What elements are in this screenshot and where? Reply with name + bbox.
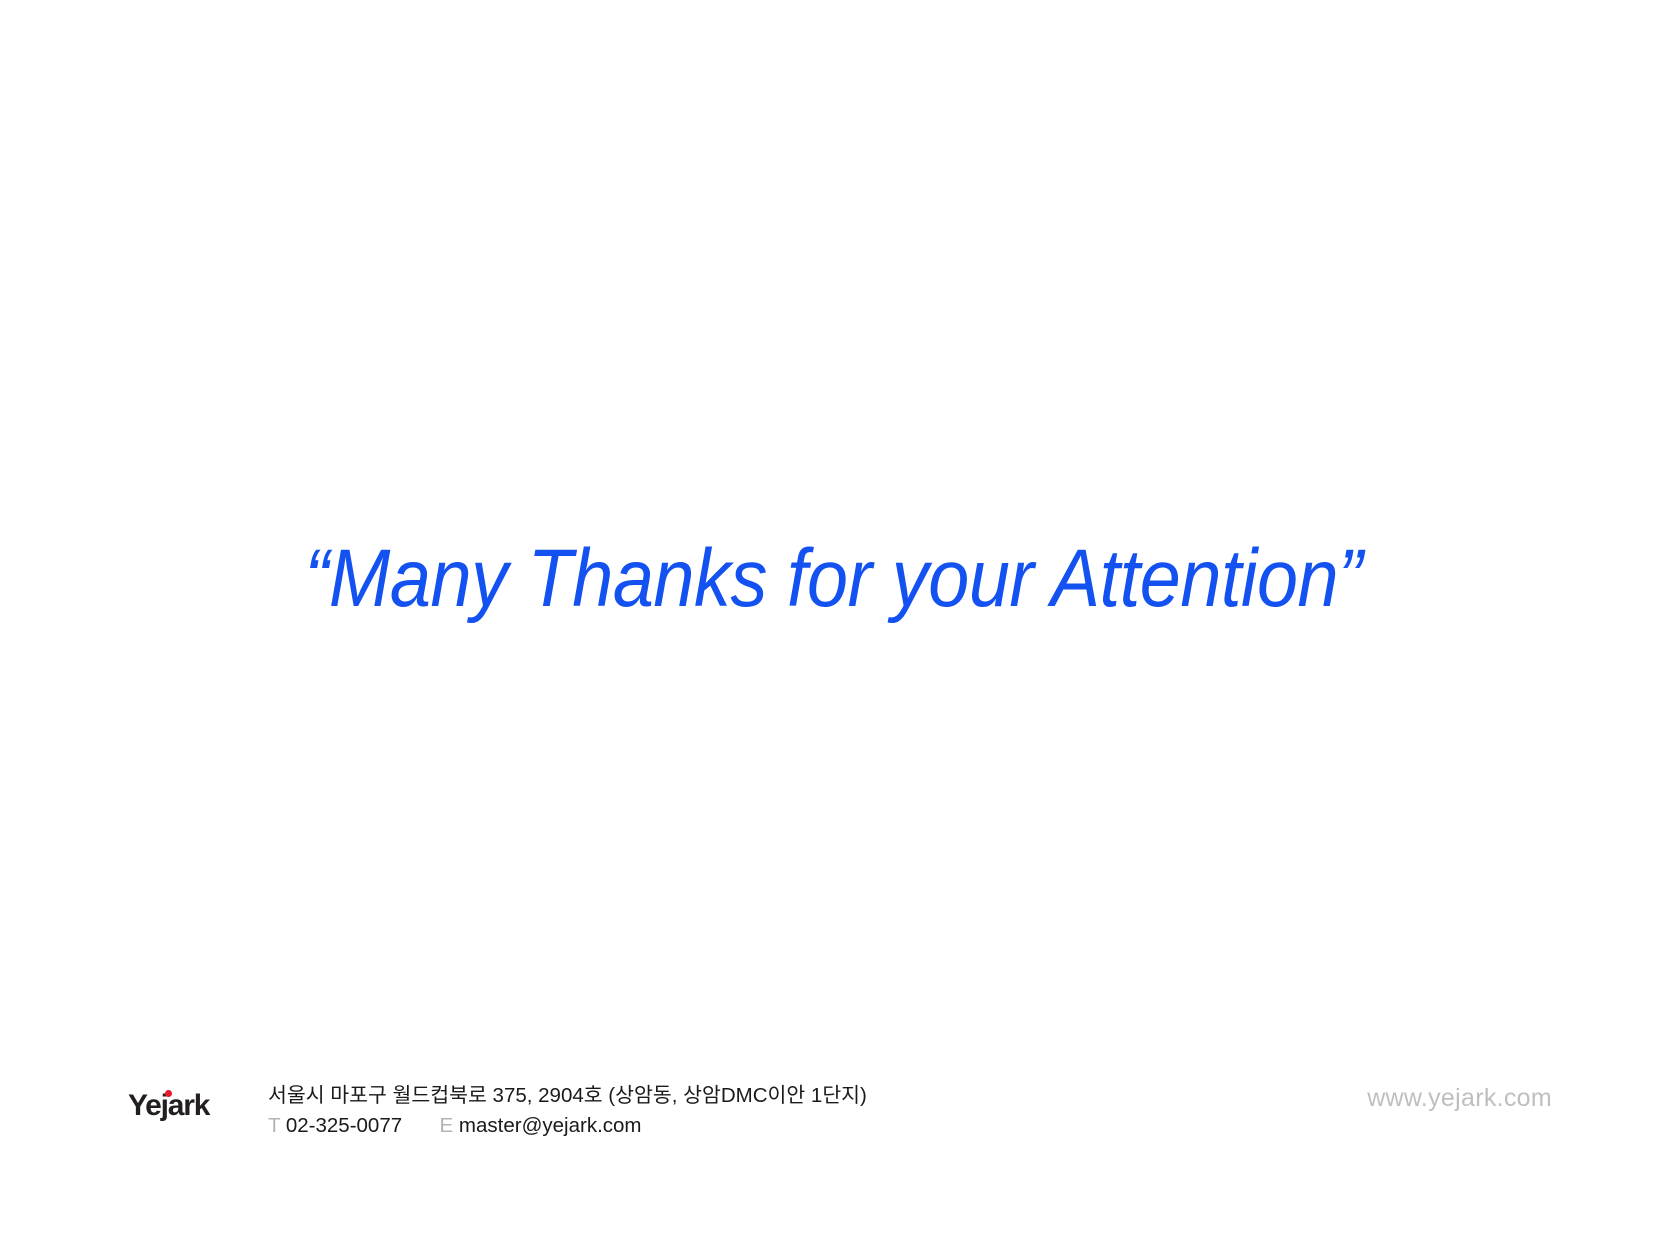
company-address: 서울시 마포구 월드컵북로 375, 2904호 (상암동, 상암DMC이안 1… (268, 1081, 867, 1111)
headline-container: “Many Thanks for your Attention” (0, 536, 1667, 622)
company-logo: Yejark (128, 1091, 209, 1121)
contact-info: 서울시 마포구 월드컵북로 375, 2904호 (상암동, 상암DMC이안 1… (268, 1081, 867, 1141)
logo-accent-dot-icon (165, 1090, 172, 1097)
contact-line-phone-email: T 02-325-0077 E master@yejark.com (268, 1111, 867, 1141)
email-address[interactable]: master@yejark.com (459, 1114, 642, 1137)
slide-footer: Yejark 서울시 마포구 월드컵북로 375, 2904호 (상암동, 상암… (0, 1078, 1667, 1158)
email-label: E (440, 1114, 454, 1137)
closing-headline: “Many Thanks for your Attention” (305, 536, 1363, 622)
phone-label: T (268, 1114, 280, 1137)
presentation-slide: “Many Thanks for your Attention” Yejark … (0, 0, 1667, 1250)
phone-number: 02-325-0077 (286, 1114, 402, 1137)
website-url[interactable]: www.yejark.com (1367, 1083, 1552, 1113)
